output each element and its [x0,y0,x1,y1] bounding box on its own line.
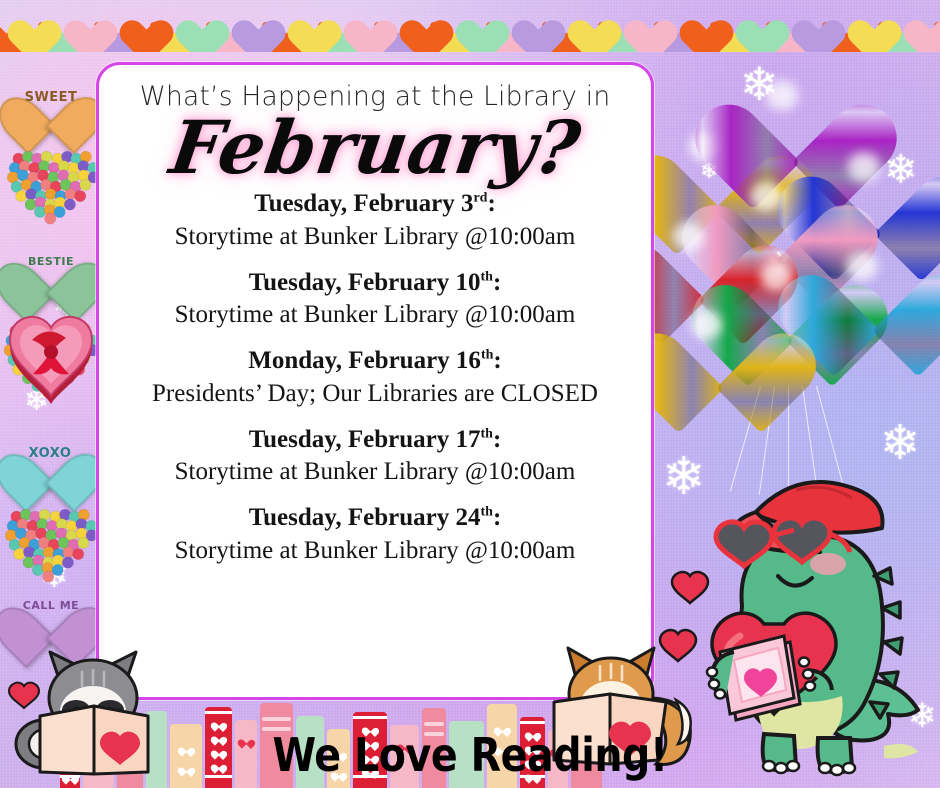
candy-heart-label: CALL ME [14,600,88,612]
garland-heart [806,4,852,46]
event-list: Tuesday, February 3rd:Storytime at Bunke… [113,189,637,566]
event-item: Tuesday, February 17th:Storytime at Bunk… [113,425,637,488]
event-date: Tuesday, February 10th: [113,268,637,298]
garland-heart [638,4,684,46]
heart-balloon-bunch [640,56,940,396]
candy-heart-shape [14,580,88,648]
gift-box-heart-shape [2,306,100,410]
event-date: Monday, February 16th: [113,346,637,376]
gold2-balloon [660,292,780,404]
footer-banner-text: We Love Reading! [66,728,874,782]
event-description: Storytime at Bunker Library @10:00am [113,222,637,252]
garland-heart [582,4,628,46]
garland-heart [302,4,348,46]
gift-box-heart [2,306,100,410]
dino-book [720,636,800,720]
dino-floating-hearts [660,572,708,661]
announcement-card: What’s Happening at the Library in Febru… [96,62,654,700]
event-item: Tuesday, February 3rd:Storytime at Bunke… [113,189,637,252]
garland-heart [134,4,180,46]
event-description: Presidents’ Day; Our Libraries are CLOSE… [113,379,637,409]
candy-heart-label: BESTIE [14,256,88,268]
candy-heart-bestie: BESTIE [14,236,88,302]
garland-heart [918,4,940,46]
candy-ball-heart [4,498,100,584]
month-script-title: February? [108,114,642,183]
event-item: Tuesday, February 24th:Storytime at Bunk… [113,503,637,566]
event-item: Monday, February 16th:Presidents’ Day; O… [113,346,637,409]
candy-ball-heart-shape [6,140,102,226]
candy-heart-label: XOXO [14,447,86,461]
candy-ball-heart [6,140,102,226]
garland-heart [750,4,796,46]
garland-heart [358,4,404,46]
candy-ball-heart-shape [4,498,100,584]
garland-heart [862,4,908,46]
event-date: Tuesday, February 17th: [113,425,637,455]
event-description: Storytime at Bunker Library @10:00am [113,536,637,566]
event-date: Tuesday, February 24th: [113,503,637,533]
garland-heart [190,4,236,46]
candy-heart-call-me: CALL ME [14,580,88,648]
event-description: Storytime at Bunker Library @10:00am [113,457,637,487]
garland-heart [78,4,124,46]
cyan-balloon [815,233,937,347]
candy-heart-xoxo: XOXO [14,428,86,492]
candy-heart-shape [14,236,88,302]
garland-heart [246,4,292,46]
garland-heart [414,4,460,46]
heart-garland-border [0,0,940,52]
candy-heart-label: SWEET [16,91,86,105]
valentine-library-poster: ❄❄❄❄❄❄❄❄❄❄❄❄❄❄❄ SWEETBESTIEXOXOCALL ME W… [0,0,940,788]
garland-heart [22,4,68,46]
garland-heart [694,4,740,46]
event-date: Tuesday, February 3rd: [113,189,637,219]
garland-heart [470,4,516,46]
candy-heart-sweet: SWEET [16,72,86,134]
garland-heart [526,4,572,46]
event-item: Tuesday, February 10th:Storytime at Bunk… [113,268,637,331]
event-description: Storytime at Bunker Library @10:00am [113,300,637,330]
